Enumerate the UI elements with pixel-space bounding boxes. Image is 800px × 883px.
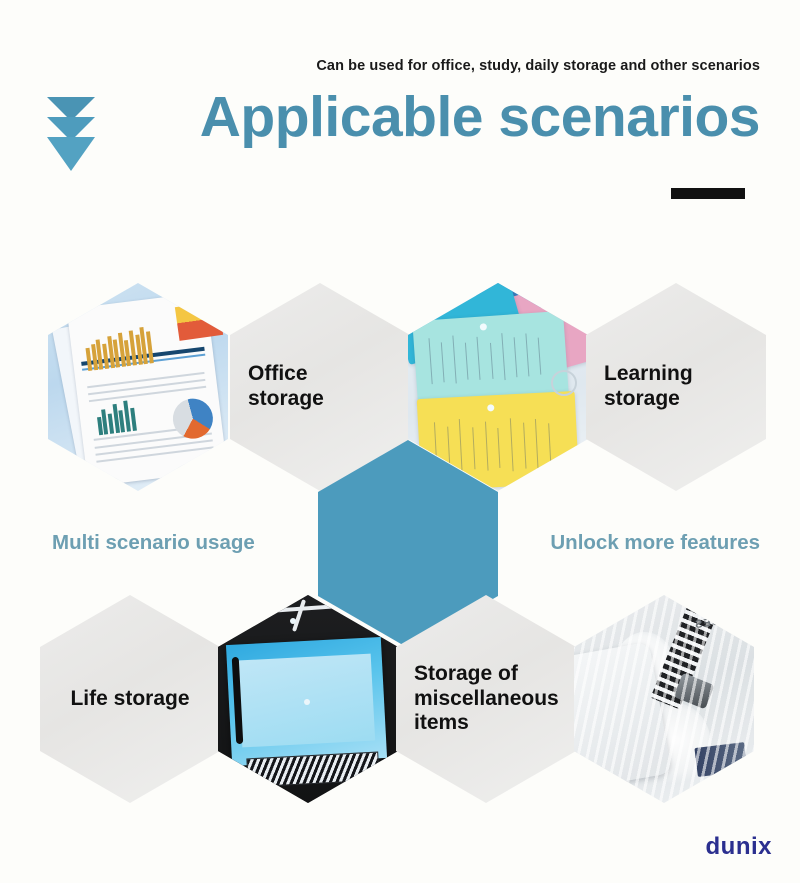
hex-learning-storage-label: Learning storage (586, 362, 766, 411)
office-documents-photo (48, 283, 228, 491)
caption-multi-scenario-usage: Multi scenario usage (52, 531, 255, 555)
hex-office-storage-label: Office storage (230, 362, 410, 411)
hex-photo-accessories[interactable]: SHOES (574, 595, 754, 803)
caption-unlock-more-features: Unlock more features (550, 531, 760, 555)
hexagon-grid: Office storage (0, 0, 800, 883)
page-root: Can be used for office, study, daily sto… (0, 0, 800, 883)
white-accessories-photo: SHOES (574, 595, 754, 803)
hex-misc-storage-label: Storage of miscellaneous items (396, 662, 576, 736)
hex-photo-office-documents[interactable] (48, 283, 228, 491)
hex-life-storage[interactable]: Life storage (40, 595, 220, 803)
brand-logo: dunix (706, 833, 773, 861)
hex-life-storage-label: Life storage (40, 687, 220, 712)
hex-learning-storage[interactable]: Learning storage (586, 283, 766, 491)
